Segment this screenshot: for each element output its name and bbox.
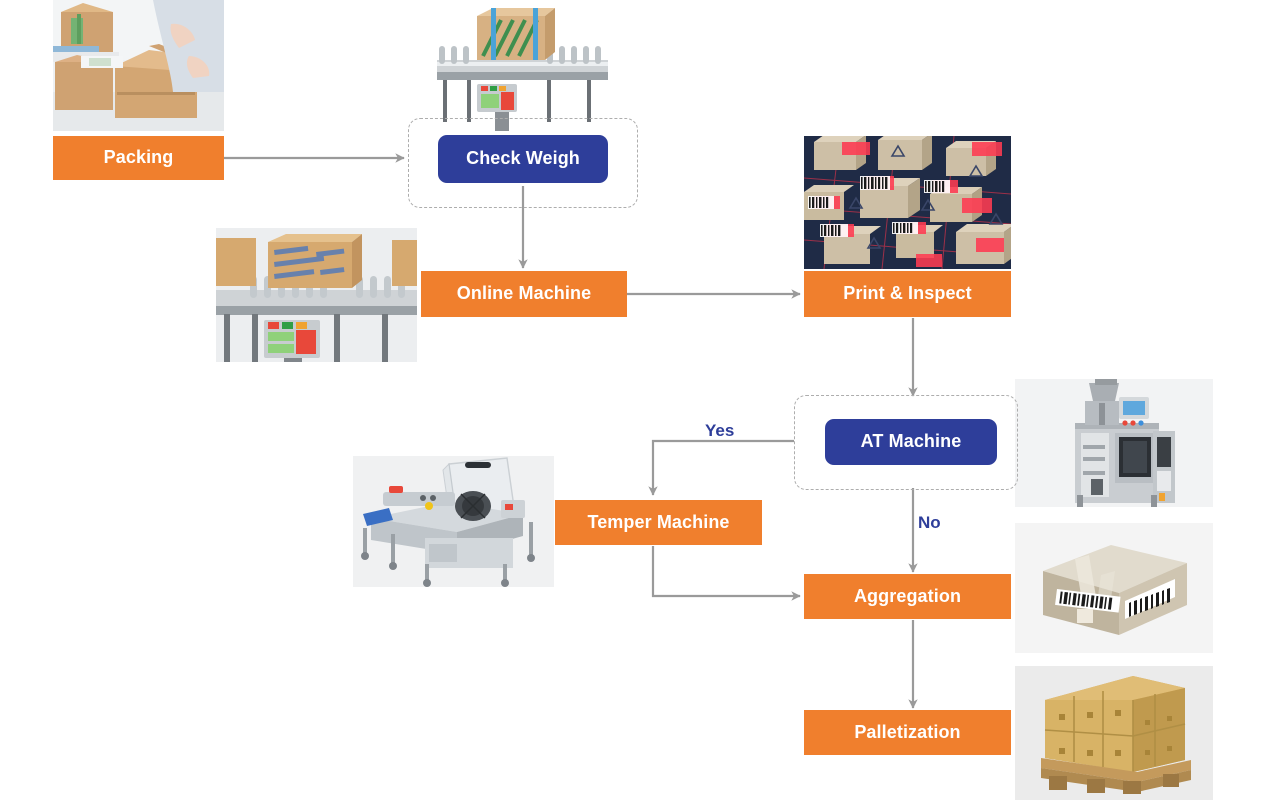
edge-label-yes-text: Yes (705, 421, 734, 440)
edge-label-no: No (918, 513, 941, 533)
at-machine-photo (1015, 379, 1213, 507)
node-print-inspect-label: Print & Inspect (843, 284, 972, 304)
node-at-machine-label: AT Machine (861, 432, 962, 452)
node-packing[interactable]: Packing (53, 136, 224, 180)
node-temper-machine[interactable]: Temper Machine (555, 500, 762, 545)
palletization-photo (1015, 666, 1213, 800)
online-machine-photo (216, 228, 417, 362)
node-online-machine[interactable]: Online Machine (421, 271, 627, 317)
node-packing-label: Packing (104, 148, 174, 168)
node-palletization[interactable]: Palletization (804, 710, 1011, 755)
flow-diagram-canvas: Packing Check Weigh Online Machine Print… (0, 0, 1268, 800)
edge-label-no-text: No (918, 513, 941, 532)
edge-label-yes: Yes (705, 421, 734, 441)
packing-photo (53, 0, 224, 131)
node-check-weigh[interactable]: Check Weigh (438, 135, 608, 183)
node-aggregation-label: Aggregation (854, 587, 961, 607)
edge-at-machine-to-temper-yes (653, 441, 794, 495)
node-print-inspect[interactable]: Print & Inspect (804, 271, 1011, 317)
aggregation-photo (1015, 523, 1213, 653)
check-weigh-photo (437, 0, 608, 131)
edge-temper-to-aggregation (653, 546, 800, 596)
node-check-weigh-label: Check Weigh (466, 149, 580, 169)
print-inspect-photo (804, 136, 1011, 269)
node-temper-machine-label: Temper Machine (587, 513, 729, 533)
node-palletization-label: Palletization (854, 723, 960, 743)
node-at-machine[interactable]: AT Machine (825, 419, 997, 465)
temper-machine-photo (353, 456, 554, 587)
node-online-machine-label: Online Machine (457, 284, 591, 304)
node-aggregation[interactable]: Aggregation (804, 574, 1011, 619)
